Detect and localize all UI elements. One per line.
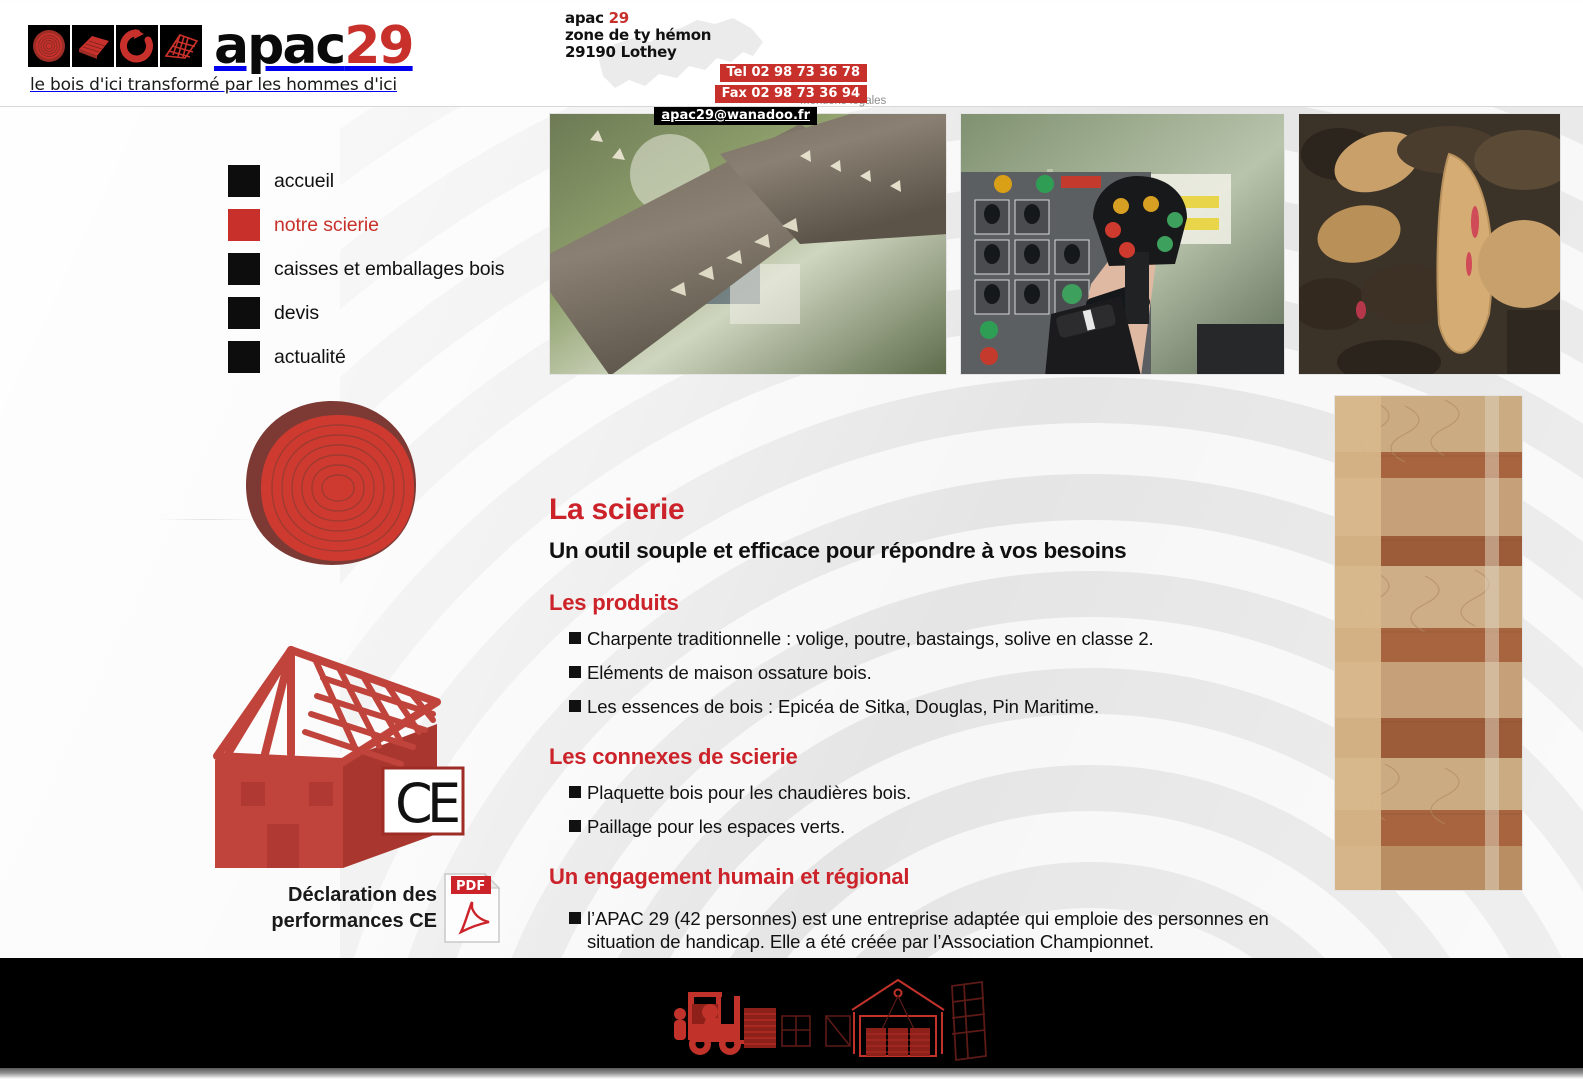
- nav-bullet-square: [228, 341, 260, 373]
- header-top-edge: [0, 0, 1583, 5]
- logo-tagline: le bois d'ici transformé par les hommes …: [30, 75, 413, 95]
- contact-block: apac 29 zone de ty hémon 29190 Lothey Te…: [565, 6, 895, 106]
- roof-truss-icon: [160, 25, 202, 67]
- sidebar-item-actualite[interactable]: actualité: [228, 335, 504, 379]
- svg-text:E: E: [427, 772, 461, 835]
- footer-illustration: [630, 968, 1030, 1063]
- connexes-list: Plaquette bois pour les chaudières bois.…: [549, 781, 1294, 838]
- pallet-stack-icon: [744, 1008, 776, 1048]
- ce-declaration-label: Déclaration des performances CE: [252, 872, 437, 934]
- list-item: Eléments de maison ossature bois.: [549, 661, 1294, 684]
- photo-sawn-timber-stack: [1334, 395, 1523, 891]
- contact-name-number: 29: [609, 9, 629, 27]
- logo-wordmark-text: apac: [214, 16, 344, 76]
- nav-bullet-square: [228, 297, 260, 329]
- warehouse-pallets: [866, 1028, 930, 1056]
- sidebar: accueil notre scierie caisses et emballa…: [0, 107, 545, 958]
- timber-house-ce-graphic: C E: [205, 612, 495, 877]
- logo-wordmark: apac29: [214, 25, 413, 67]
- ce-declaration-line1: Déclaration des: [288, 884, 437, 906]
- contact-name: apac 29: [565, 10, 895, 27]
- pdf-icon: PDF: [441, 872, 503, 944]
- sidebar-item-label: notre scierie: [274, 214, 379, 237]
- section-heading-engagement: Un engagement humain et régional: [549, 864, 1294, 890]
- contact-address-2: 29190 Lothey: [565, 44, 895, 61]
- sidebar-item-devis[interactable]: devis: [228, 291, 504, 335]
- site-logo[interactable]: apac29 le bois d'ici transformé par les …: [28, 25, 413, 95]
- nav-bullet-square: [228, 253, 260, 285]
- rack-icon: [952, 982, 986, 1060]
- ce-declaration-line2: performances CE: [271, 910, 437, 932]
- contact-email-row: apac29@wanadoo.fr: [565, 106, 895, 125]
- recycle-arrow-icon: [116, 25, 158, 67]
- site-header: apac29 le bois d'ici transformé par les …: [0, 0, 1583, 107]
- photo-log-stack: [1298, 113, 1561, 375]
- contact-fax: Fax 02 98 73 36 94: [715, 85, 867, 103]
- list-item: Les essences de bois : Epicéa de Sitka, …: [549, 695, 1294, 718]
- contact-email-link[interactable]: apac29@wanadoo.fr: [654, 107, 817, 125]
- photo-circular-saw-blade: [549, 113, 947, 375]
- page-root: apac29 le bois d'ici transformé par les …: [0, 0, 1583, 1079]
- site-footer: [0, 958, 1583, 1068]
- contact-fax-row: Fax 02 98 73 36 94: [565, 84, 895, 103]
- contact-address-1: zone de ty hémon: [565, 27, 895, 44]
- log-cross-section-graphic: [228, 393, 433, 573]
- list-item: Plaquette bois pour les chaudières bois.: [549, 781, 1294, 804]
- tree-rings-icon: [28, 25, 70, 67]
- ce-declaration-link[interactable]: Déclaration des performances CE PDF: [252, 872, 503, 944]
- sidebar-item-accueil[interactable]: accueil: [228, 159, 504, 203]
- contact-tel-row: Tel 02 98 73 36 78: [565, 63, 895, 82]
- sidebar-item-label: actualité: [274, 346, 346, 369]
- list-item: Charpente traditionnelle : volige, poutr…: [549, 627, 1294, 650]
- contact-name-text: apac: [565, 9, 604, 27]
- sidebar-item-label: devis: [274, 302, 319, 325]
- logo-wordmark-number: 29: [344, 16, 412, 76]
- page-title: La scierie: [549, 493, 1294, 527]
- photo-control-joystick: [960, 113, 1285, 375]
- logo-icon-set: [28, 25, 202, 67]
- nav-bullet-square: [228, 209, 260, 241]
- nav-bullet-square: [228, 165, 260, 197]
- contact-tel: Tel 02 98 73 36 78: [720, 64, 868, 82]
- pdf-icon-label: PDF: [456, 879, 485, 894]
- footer-bottom-edge: [0, 1068, 1583, 1079]
- section-heading-produits: Les produits: [549, 590, 1294, 616]
- pallet-stack-icon: [72, 25, 114, 67]
- section-heading-connexes: Les connexes de scierie: [549, 744, 1294, 770]
- list-item: l’APAC 29 (42 personnes) est une entrepr…: [549, 907, 1294, 953]
- list-item: Paillage pour les espaces verts.: [549, 815, 1294, 838]
- crate-frame-icon: [782, 1016, 850, 1046]
- sidebar-item-caisses-et-emballages-bois[interactable]: caisses et emballages bois: [228, 247, 504, 291]
- main-navigation: accueil notre scierie caisses et emballa…: [228, 159, 504, 379]
- sidebar-item-label: caisses et emballages bois: [274, 258, 504, 281]
- page-subtitle: Un outil souple et efficace pour répondr…: [549, 537, 1294, 564]
- product-list: Charpente traditionnelle : volige, poutr…: [549, 627, 1294, 718]
- logo-row: apac29: [28, 25, 413, 67]
- sidebar-item-notre-scierie[interactable]: notre scierie: [228, 203, 504, 247]
- contact-text-lines: apac 29 zone de ty hémon 29190 Lothey Te…: [565, 6, 895, 125]
- sidebar-item-label: accueil: [274, 170, 334, 193]
